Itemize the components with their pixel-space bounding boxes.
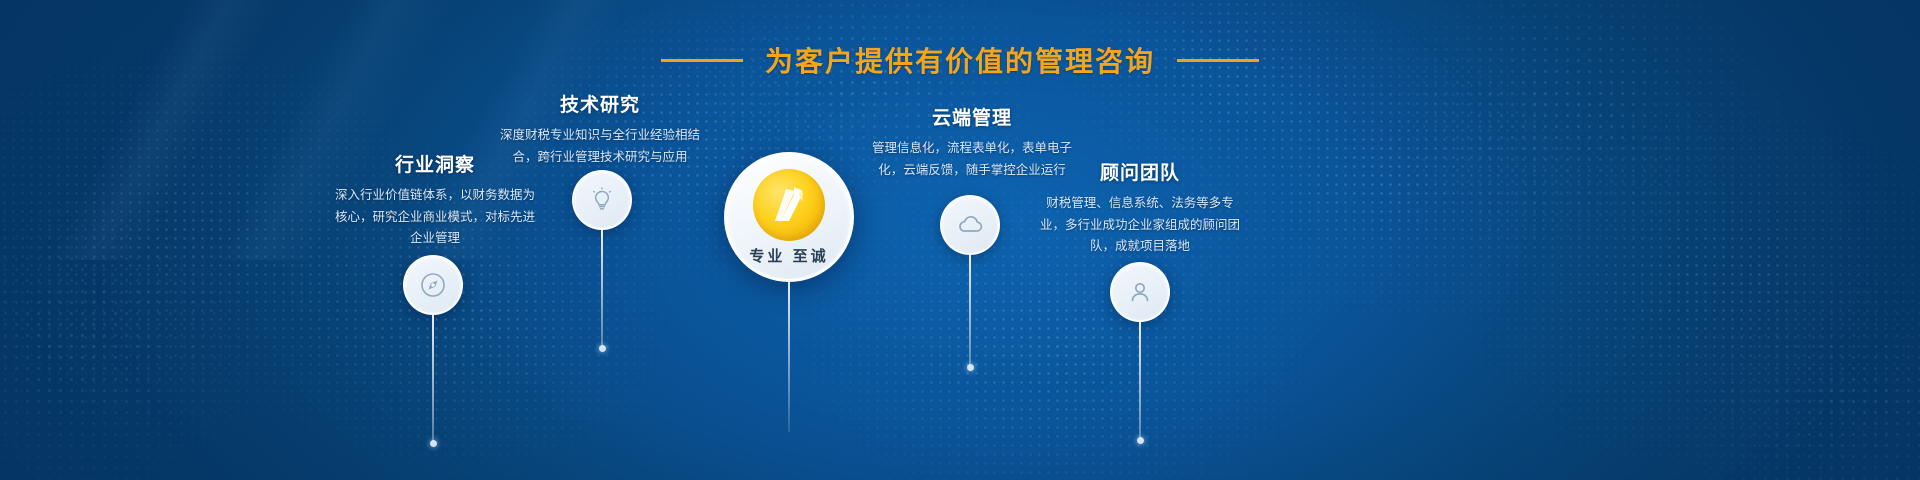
pin-stem (1139, 322, 1141, 440)
lightbulb-icon[interactable] (572, 170, 632, 230)
feature-technology-research: 技术研究 深度财税专业知识与全行业经验相结合，跨行业管理技术研究与应用 (495, 90, 705, 168)
pin-stem (969, 255, 971, 367)
pin-stem (432, 315, 434, 443)
pin-base-dot (430, 440, 437, 447)
feature-body: 深度财税专业知识与全行业经验相结合，跨行业管理技术研究与应用 (495, 125, 705, 168)
cloud-icon[interactable] (940, 195, 1000, 255)
pin-base-dot (599, 345, 606, 352)
pin-stem (601, 230, 603, 348)
feature-body: 财税管理、信息系统、法务等多专业，多行业成功企业家组成的顾问团队，成就项目落地 (1040, 193, 1240, 258)
pin-base-dot (1137, 437, 1144, 444)
feature-body: 深入行业价值链体系，以财务数据为核心，研究企业商业模式，对标先进企业管理 (335, 185, 535, 250)
pin-base-dot (967, 364, 974, 371)
logo-ring[interactable]: 专业 至诚 (724, 152, 854, 282)
pin-consultant-team[interactable] (1110, 262, 1170, 444)
pin-technology-research[interactable] (572, 170, 632, 352)
center-brand-logo[interactable]: 专业 至诚 (724, 152, 854, 432)
feature-consultant-team: 顾问团队 财税管理、信息系统、法务等多专业，多行业成功企业家组成的顾问团队，成就… (1040, 158, 1240, 258)
logo-slogan: 专业 至诚 (749, 245, 828, 266)
upward-arrow-logo-icon (753, 169, 825, 241)
banner-title-group: 为客户提供有价值的管理咨询 (0, 40, 1920, 80)
pin-industry-insight[interactable] (403, 255, 463, 447)
compass-icon[interactable] (403, 255, 463, 315)
feature-title: 技术研究 (495, 90, 705, 117)
feature-title: 顾问团队 (1040, 158, 1240, 185)
consulting-hero-banner: 为客户提供有价值的管理咨询 行业洞察 深入行业价值链体系，以财务数据为核心，研究… (0, 0, 1920, 480)
title-rule-right (1177, 59, 1259, 62)
logo-stem (788, 282, 790, 432)
banner-title: 为客户提供有价值的管理咨询 (765, 40, 1155, 80)
person-icon[interactable] (1110, 262, 1170, 322)
feature-title: 云端管理 (862, 103, 1082, 130)
pin-cloud-management[interactable] (940, 195, 1000, 371)
title-rule-left (661, 59, 743, 62)
